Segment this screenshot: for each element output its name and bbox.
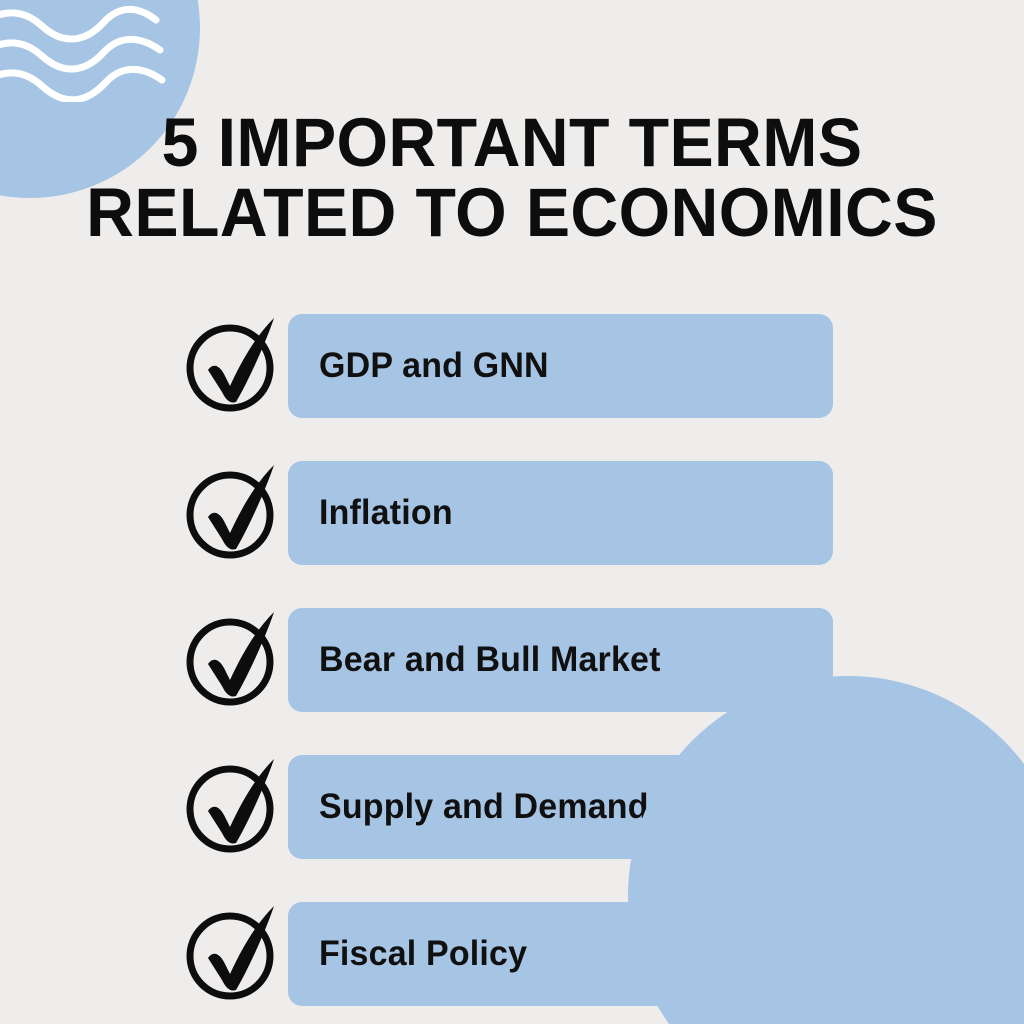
term-label: Supply and Demand: [319, 787, 649, 827]
term-pill[interactable]: Bear and Bull Market: [288, 608, 833, 712]
list-item[interactable]: GDP and GNN: [0, 314, 1024, 418]
list-item[interactable]: Inflation: [0, 461, 1024, 565]
term-label: Bear and Bull Market: [319, 640, 661, 680]
check-circle-icon: [186, 751, 282, 855]
title-line-1: 5 IMPORTANT TERMS: [59, 108, 965, 178]
title-line-2: RELATED TO ECONOMICS: [59, 178, 965, 248]
term-pill[interactable]: Inflation: [288, 461, 833, 565]
check-circle-icon: [186, 457, 282, 561]
page-title: 5 IMPORTANT TERMS RELATED TO ECONOMICS: [0, 108, 1024, 249]
term-pill[interactable]: GDP and GNN: [288, 314, 833, 418]
term-label: Inflation: [319, 493, 453, 533]
check-circle-icon: [186, 604, 282, 708]
term-label: Fiscal Policy: [319, 934, 527, 974]
term-label: GDP and GNN: [319, 346, 549, 386]
infographic-poster: 5 IMPORTANT TERMS RELATED TO ECONOMICS G…: [0, 0, 1024, 1024]
check-circle-icon: [186, 310, 282, 414]
check-circle-icon: [186, 898, 282, 1002]
